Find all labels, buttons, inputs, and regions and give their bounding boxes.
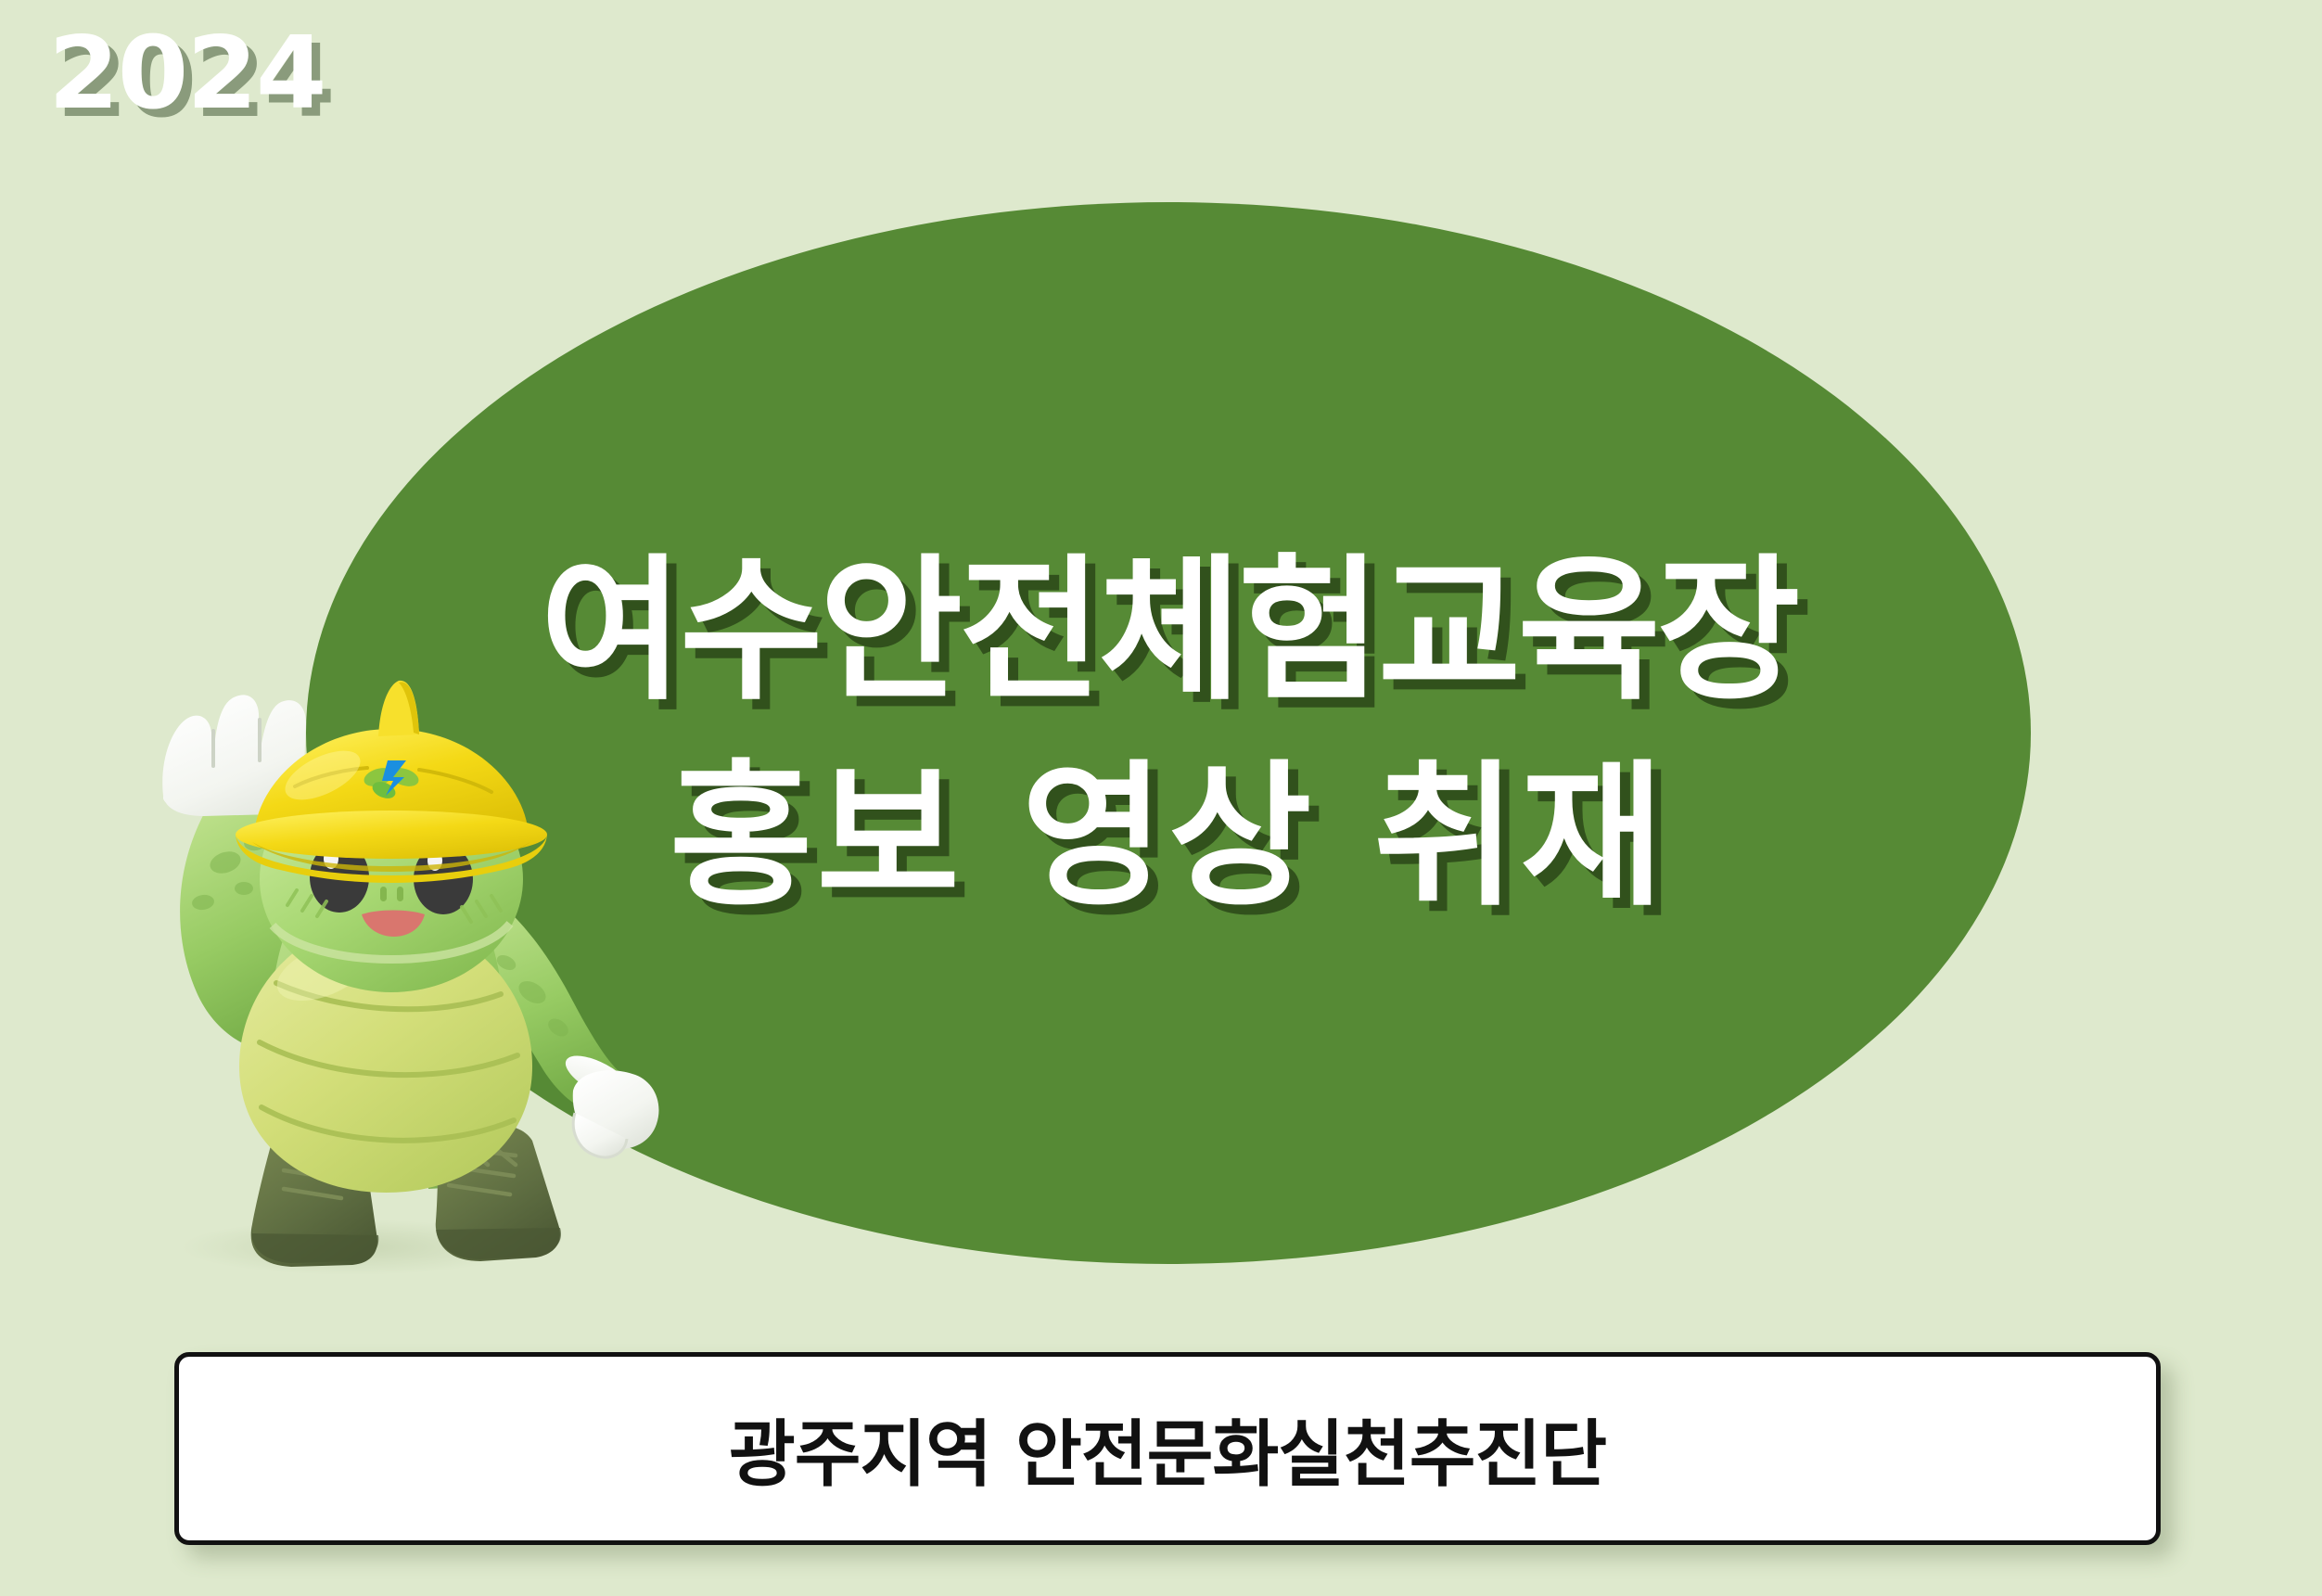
footer-organization-label: 광주지역 안전문화실천추진단	[729, 1397, 1606, 1500]
turtle-mascot-icon	[74, 677, 742, 1345]
year-badge: 2024	[48, 24, 325, 124]
footer-banner: 광주지역 안전문화실천추진단	[174, 1352, 2161, 1545]
poster-canvas: 2024 여수안전체험교육장 홍보 영상 취재	[0, 0, 2322, 1596]
